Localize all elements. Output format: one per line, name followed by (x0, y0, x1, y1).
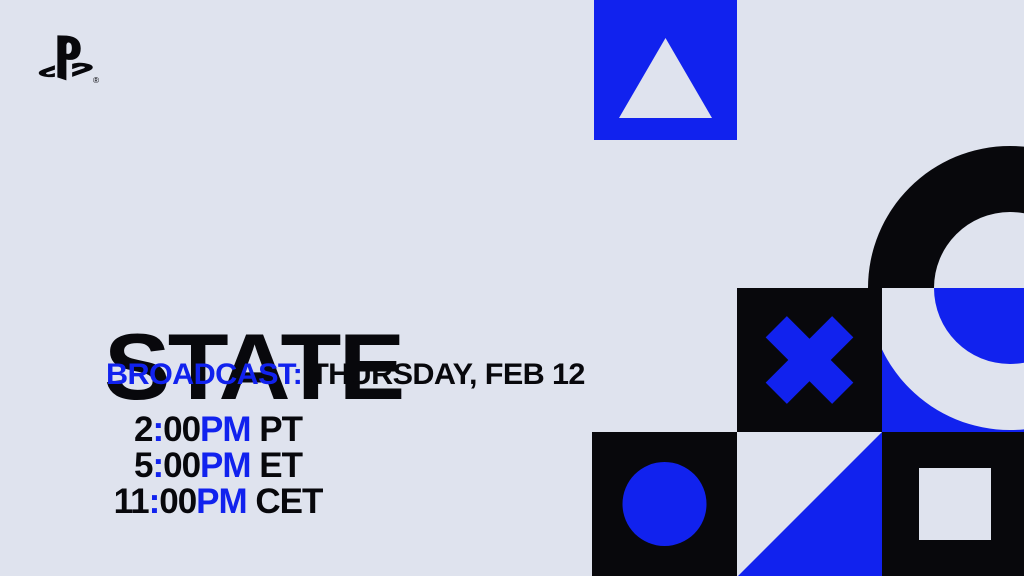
trademark-symbol: ® (93, 76, 99, 85)
broadcast-label: BROADCAST: (106, 358, 302, 391)
time-row: 5:00PM ET (84, 448, 352, 484)
time-meridiem: PM (200, 410, 251, 449)
time-minutes: 00 (163, 410, 200, 449)
time-meridiem: PM (200, 446, 251, 485)
time-colon: : (152, 410, 163, 449)
playstation-logo-icon: ® (28, 32, 104, 86)
time-colon: : (149, 482, 160, 521)
time-hour: 5 (134, 446, 152, 485)
time-row: 11:00PM CET (84, 484, 352, 520)
time-minutes: 00 (159, 482, 196, 521)
time-row: 2:00PM PT (84, 412, 352, 448)
time-zone: PT (259, 410, 302, 449)
broadcast-date: THURSDAY, FEB 12 (310, 358, 585, 391)
time-hour: 2 (134, 410, 152, 449)
time-colon: : (152, 446, 163, 485)
state-of-play-promo: ® STATE OF PLAY BROADCAST: THURSDAY, FEB… (0, 0, 1024, 576)
time-meridiem: PM (196, 482, 247, 521)
time-zone: CET (255, 482, 322, 521)
time-zone: ET (259, 446, 302, 485)
time-hour: 11 (114, 482, 149, 521)
broadcast-line: BROADCAST: THURSDAY, FEB 12 (106, 358, 585, 392)
time-minutes: 00 (163, 446, 200, 485)
broadcast-times: 2:00PM PT 5:00PM ET 11:00PM CET (84, 412, 352, 520)
